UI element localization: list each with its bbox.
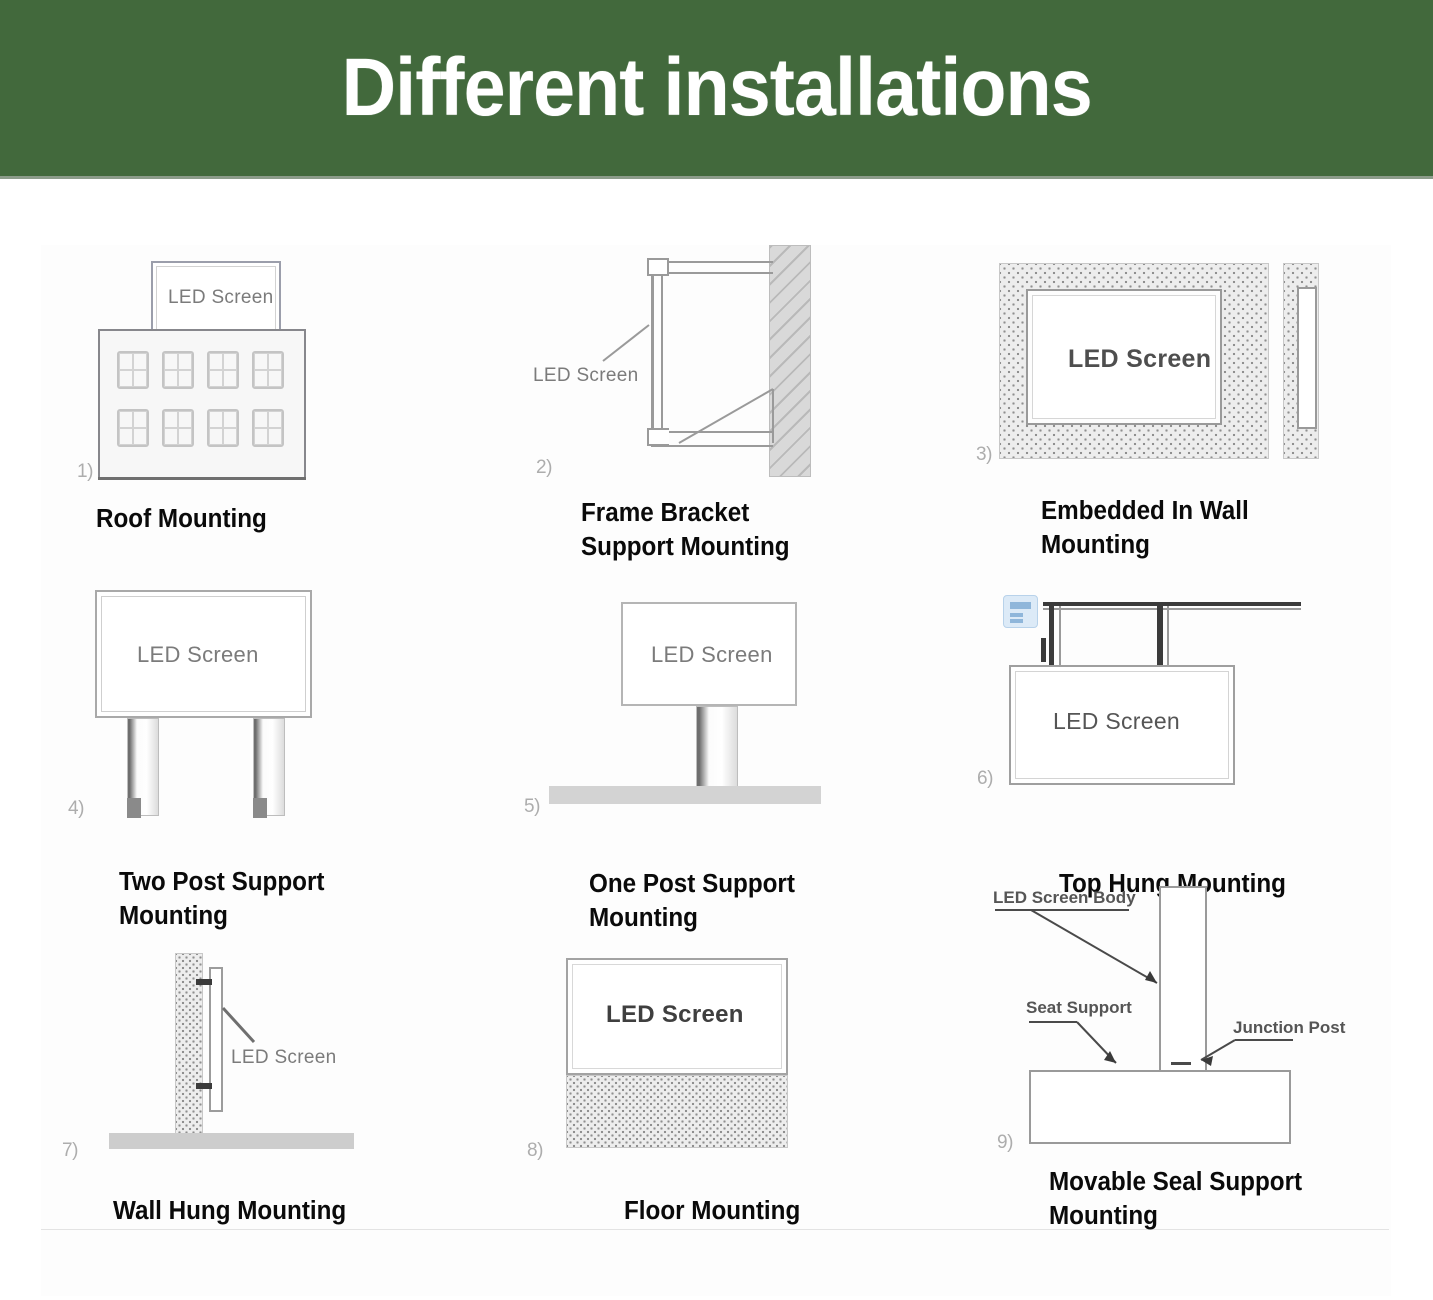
figure-1-drawing: LED Screen xyxy=(41,239,481,489)
figure-8-floor-mounting: LED Screen 8) Floor Mounting xyxy=(511,935,971,1235)
figure-5-drawing: LED Screen 5) xyxy=(511,580,971,850)
figure-2-frame-bracket-support-mounting: LED Screen 2) Frame Bracket Support Moun… xyxy=(511,239,971,569)
figure-2-drawing: LED Screen 2) xyxy=(511,239,971,489)
figure-4-two-post-support-mounting: LED Screen 4) Two Post Support Mounting xyxy=(41,580,481,930)
broken-image-icon xyxy=(1003,595,1038,628)
figure-3-number: 3) xyxy=(976,444,992,466)
figure-1-caption: Roof Mounting xyxy=(96,503,457,537)
centre-post xyxy=(696,706,738,790)
figure-1-roof-mounting: LED Screen xyxy=(41,239,481,539)
ground-bar xyxy=(109,1133,354,1149)
figure-2-screen-label: LED Screen xyxy=(533,365,638,387)
figure-3-screen-label: LED Screen xyxy=(1068,345,1211,374)
figure-6-number: 6) xyxy=(977,768,993,790)
header-banner: Different installations xyxy=(0,0,1433,176)
callout-seat-support: Seat Support xyxy=(1026,998,1132,1018)
support-post-foot xyxy=(253,798,267,818)
figure-5-number: 5) xyxy=(524,796,540,818)
figure-9-number: 9) xyxy=(997,1132,1013,1154)
building-window xyxy=(117,351,149,389)
figure-2-number: 2) xyxy=(536,457,552,479)
figure-5-one-post-support-mounting: LED Screen 5) One Post Support Mounting xyxy=(511,580,971,930)
figure-8-drawing: LED Screen 8) xyxy=(511,935,971,1185)
figure-8-caption: Floor Mounting xyxy=(624,1195,1004,1229)
building-window xyxy=(207,409,239,447)
figure-3-drawing: LED Screen 3) xyxy=(971,239,1411,489)
figure-7-screen-label: LED Screen xyxy=(231,1047,336,1069)
figure-5-screen-label: LED Screen xyxy=(651,642,773,668)
figure-3-embedded-in-wall-mounting: LED Screen 3) Embedded In Wall Mounting xyxy=(971,239,1411,569)
building-window xyxy=(162,351,194,389)
ground-bar xyxy=(549,786,821,804)
building-base-shadow xyxy=(98,477,306,480)
figure-7-caption: Wall Hung Mounting xyxy=(113,1195,493,1229)
building-window xyxy=(252,409,284,447)
callout-led-screen-body: LED Screen Body xyxy=(993,888,1136,908)
figure-7-number: 7) xyxy=(62,1140,78,1162)
figure-4-drawing: LED Screen 4) xyxy=(41,580,481,850)
overhead-beam-bottom xyxy=(1043,608,1301,610)
figure-5-caption: One Post Support Mounting xyxy=(589,868,969,935)
figure-6-drawing: LED Screen 6) xyxy=(971,580,1411,850)
building-window xyxy=(162,409,194,447)
figure-7-drawing: LED Screen 7) xyxy=(41,935,481,1185)
callout-junction-post: Junction Post xyxy=(1233,1018,1345,1038)
figure-1-screen-label: LED Screen xyxy=(168,287,273,309)
figure-9-caption: Movable Seal Support Mounting xyxy=(1049,1166,1433,1233)
content-sheet: LED Screen xyxy=(0,179,1433,1300)
support-post-foot xyxy=(127,798,141,818)
building-window xyxy=(252,351,284,389)
hanger-stub xyxy=(1041,638,1046,662)
installation-grid: LED Screen xyxy=(41,225,1401,1285)
figure-3-caption: Embedded In Wall Mounting xyxy=(1041,495,1421,562)
building-window xyxy=(117,409,149,447)
figure-4-caption: Two Post Support Mounting xyxy=(119,866,499,933)
overhead-beam-top xyxy=(1043,602,1301,606)
figure-6-screen-label: LED Screen xyxy=(1053,708,1180,735)
figure-8-screen-label: LED Screen xyxy=(606,1001,744,1029)
figure-4-screen-label: LED Screen xyxy=(137,642,259,668)
figure-4-number: 4) xyxy=(68,798,84,820)
figure-9-movable-seal-support-mounting: LED Screen Body Seat Support Junction Po… xyxy=(971,870,1431,1250)
building-window xyxy=(207,351,239,389)
figure-9-drawing: LED Screen Body Seat Support Junction Po… xyxy=(971,870,1431,1160)
figure-2-caption: Frame Bracket Support Mounting xyxy=(581,497,961,564)
figure-8-number: 8) xyxy=(527,1140,543,1162)
figure-7-wall-hung-mounting: LED Screen 7) Wall Hung Mounting xyxy=(41,935,481,1235)
embedded-screen-side xyxy=(1297,287,1317,429)
floor-plinth xyxy=(566,1075,788,1148)
figure-2-leader-line xyxy=(511,239,971,489)
figure-1-number: 1) xyxy=(77,461,93,483)
screen-top-highlight xyxy=(627,607,791,609)
page-title: Different installations xyxy=(341,47,1091,129)
